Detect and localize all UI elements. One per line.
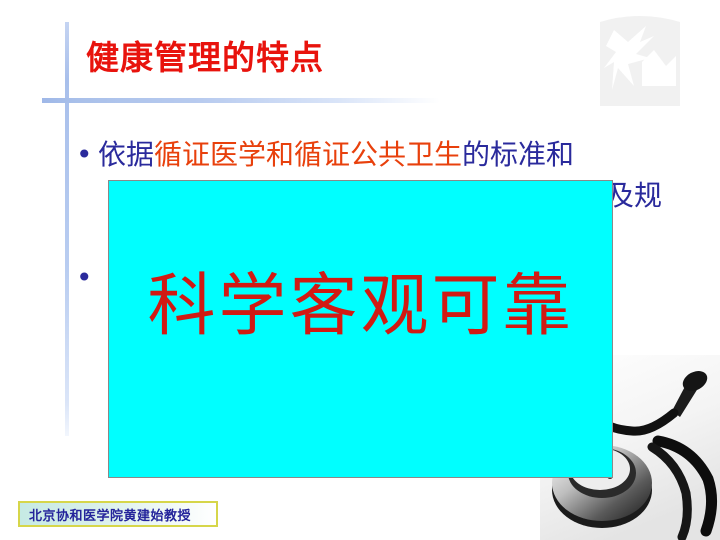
bullet-1-segment-3: 的标准和 [462, 138, 574, 171]
footer-credit-text: 北京协和医学院黄建始教授 [20, 505, 191, 524]
bullet-marker-icon-2: • [76, 257, 93, 298]
footer-credit-box: 北京协和医学院黄建始教授 [18, 501, 218, 527]
seal-watermark-icon [584, 2, 696, 114]
presentation-slide: 健康管理的特点 • 依据循证医学和循证公共卫生的标准和 及规 • 科学客观可靠 … [0, 0, 720, 540]
bullet-marker-icon: • [76, 134, 93, 175]
slide-title: 健康管理的特点 [86, 40, 324, 76]
cyan-callout-text: 科学客观可靠 [109, 273, 612, 341]
bullet-1-segment-1: 依据 [98, 138, 154, 171]
horizontal-blue-rule [42, 98, 440, 103]
cyan-callout-box[interactable]: 科学客观可靠 [108, 180, 613, 478]
bullet-1-segment-highlight: 循证医学和循证公共卫生 [154, 138, 462, 171]
bullet-item-1: • 依据循证医学和循证公共卫生的标准和 [72, 134, 702, 175]
vertical-blue-rule [65, 22, 69, 436]
